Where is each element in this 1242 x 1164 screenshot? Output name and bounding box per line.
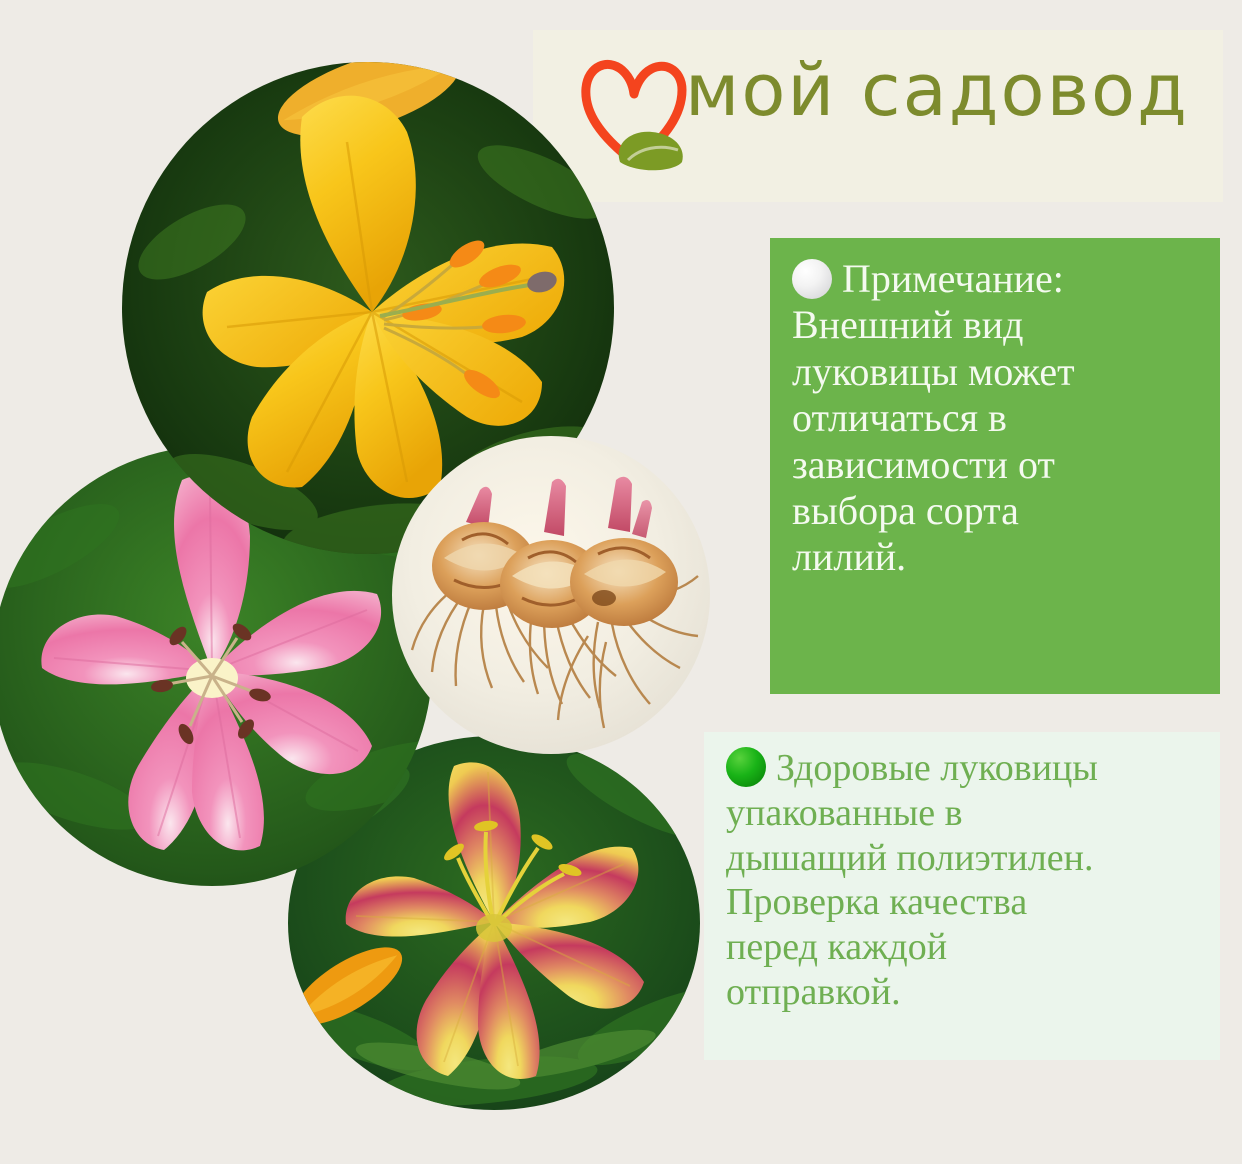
note-card-line-2: луковицы может — [792, 349, 1198, 395]
health-card: Здоровые луковицы упакованные в дышащий … — [704, 732, 1220, 1060]
health-card-line-4: перед каждой — [726, 925, 1198, 970]
health-card-line-3: Проверка качества — [726, 880, 1198, 925]
lily-bulbs-photo — [392, 436, 710, 754]
health-card-line-1: упакованные в — [726, 791, 1198, 836]
note-card-line-4: зависимости от — [792, 442, 1198, 488]
brand-logo-panel: мой садовод — [533, 30, 1223, 202]
health-card-line-0: Здоровые луковицы — [726, 746, 1198, 791]
note-card-line-6: лилий. — [792, 534, 1198, 580]
health-card-line-5: отправкой. — [726, 970, 1198, 1015]
note-card-line-5: выбора сорта — [792, 488, 1198, 534]
leaf-icon — [578, 44, 690, 174]
heart-leaf-logo-mark — [578, 44, 690, 174]
poster-canvas: мой садовод Примечание: Внешний вид луко… — [0, 0, 1242, 1164]
note-card-line-3: отличаться в — [792, 395, 1198, 441]
note-card-line-0: Примечание: — [792, 256, 1198, 302]
health-card-line-2: дышащий полиэтилен. — [726, 836, 1198, 881]
note-card: Примечание: Внешний вид луковицы может о… — [770, 238, 1220, 694]
health-card-heading: Здоровые луковицы — [776, 747, 1098, 789]
brand-name: мой садовод — [685, 48, 1189, 132]
green-circle-bullet-icon — [726, 747, 766, 787]
white-circle-bullet-icon — [792, 259, 832, 299]
note-card-heading: Примечание: — [842, 256, 1064, 301]
note-card-line-1: Внешний вид — [792, 302, 1198, 348]
